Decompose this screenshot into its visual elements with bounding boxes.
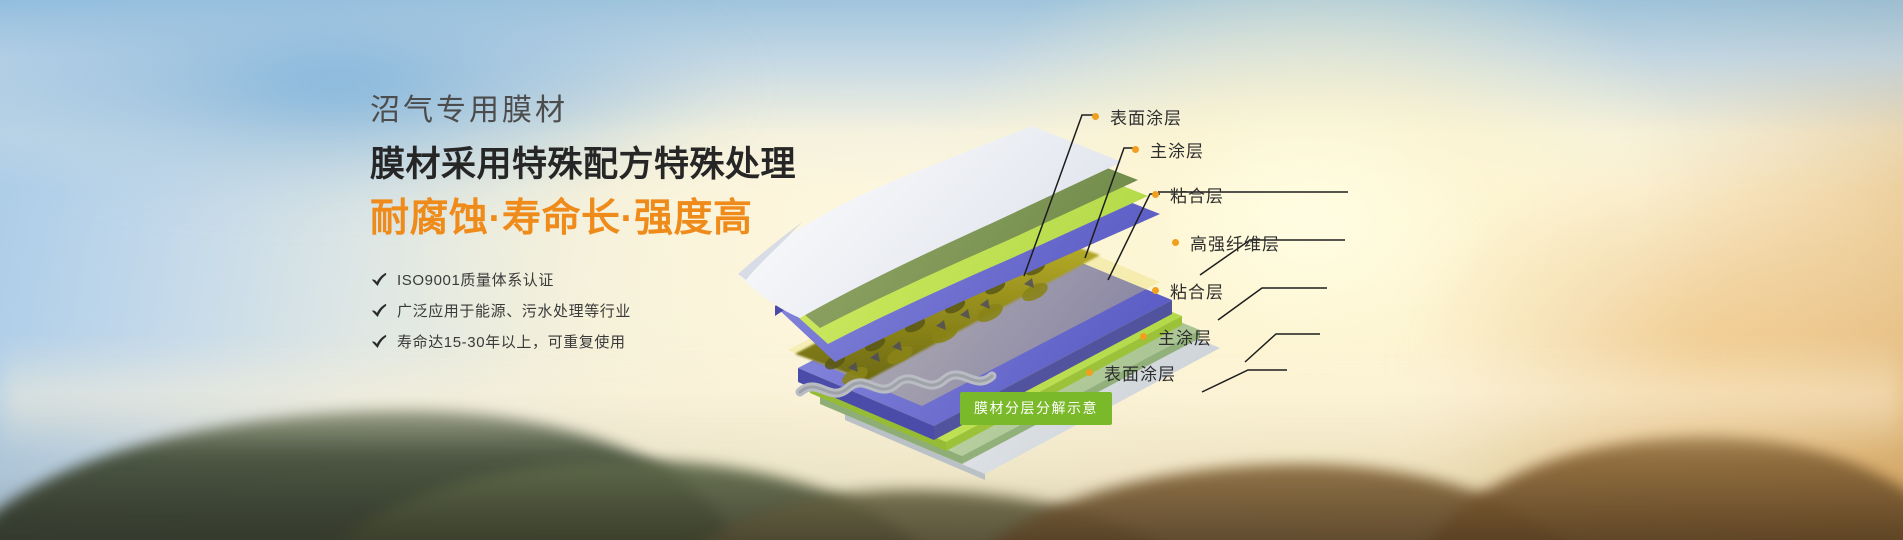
callout-main-coat-top: 主涂层 xyxy=(1132,137,1204,162)
list-item-label: 广泛应用于能源、污水处理等行业 xyxy=(397,304,631,321)
bullet-dot-icon xyxy=(1140,333,1147,340)
callout-label: 表面涂层 xyxy=(1110,104,1182,129)
callout-label: 粘合层 xyxy=(1170,182,1224,207)
bullet-dot-icon xyxy=(1132,146,1139,153)
callout-fiber-core: 高强纤维层 xyxy=(1172,230,1280,255)
list-item-label: 寿命达15-30年以上，可重复使用 xyxy=(397,335,626,352)
bullet-dot-icon xyxy=(1152,191,1159,198)
callout-surface-coat-top: 表面涂层 xyxy=(1092,104,1182,129)
bullet-dot-icon xyxy=(1152,287,1159,294)
check-icon xyxy=(370,302,388,320)
check-icon xyxy=(370,333,388,351)
check-icon xyxy=(370,271,388,289)
callout-label: 粘合层 xyxy=(1170,278,1224,303)
callout-main-coat-bottom: 主涂层 xyxy=(1140,324,1212,349)
bullet-dot-icon xyxy=(1086,369,1093,376)
callout-adhesive-top: 粘合层 xyxy=(1152,182,1224,207)
diagram-badge: 膜材分层分解示意 xyxy=(960,392,1112,425)
callout-label: 表面涂层 xyxy=(1104,360,1176,385)
bullet-dot-icon xyxy=(1172,239,1179,246)
bullet-dot-icon xyxy=(1092,113,1099,120)
callout-surface-coat-bottom: 表面涂层 xyxy=(1086,360,1176,385)
callout-label: 高强纤维层 xyxy=(1190,230,1280,255)
callout-label: 主涂层 xyxy=(1158,324,1212,349)
hero-banner: 沼气专用膜材 膜材采用特殊配方特殊处理 耐腐蚀·寿命长·强度高 ISO9001质… xyxy=(0,0,1903,540)
callout-label: 主涂层 xyxy=(1150,137,1204,162)
callout-adhesive-bottom: 粘合层 xyxy=(1152,278,1224,303)
list-item-label: ISO9001质量体系认证 xyxy=(397,273,554,290)
membrane-layers-illustration: 膜材分层分解示意 xyxy=(660,62,1280,482)
